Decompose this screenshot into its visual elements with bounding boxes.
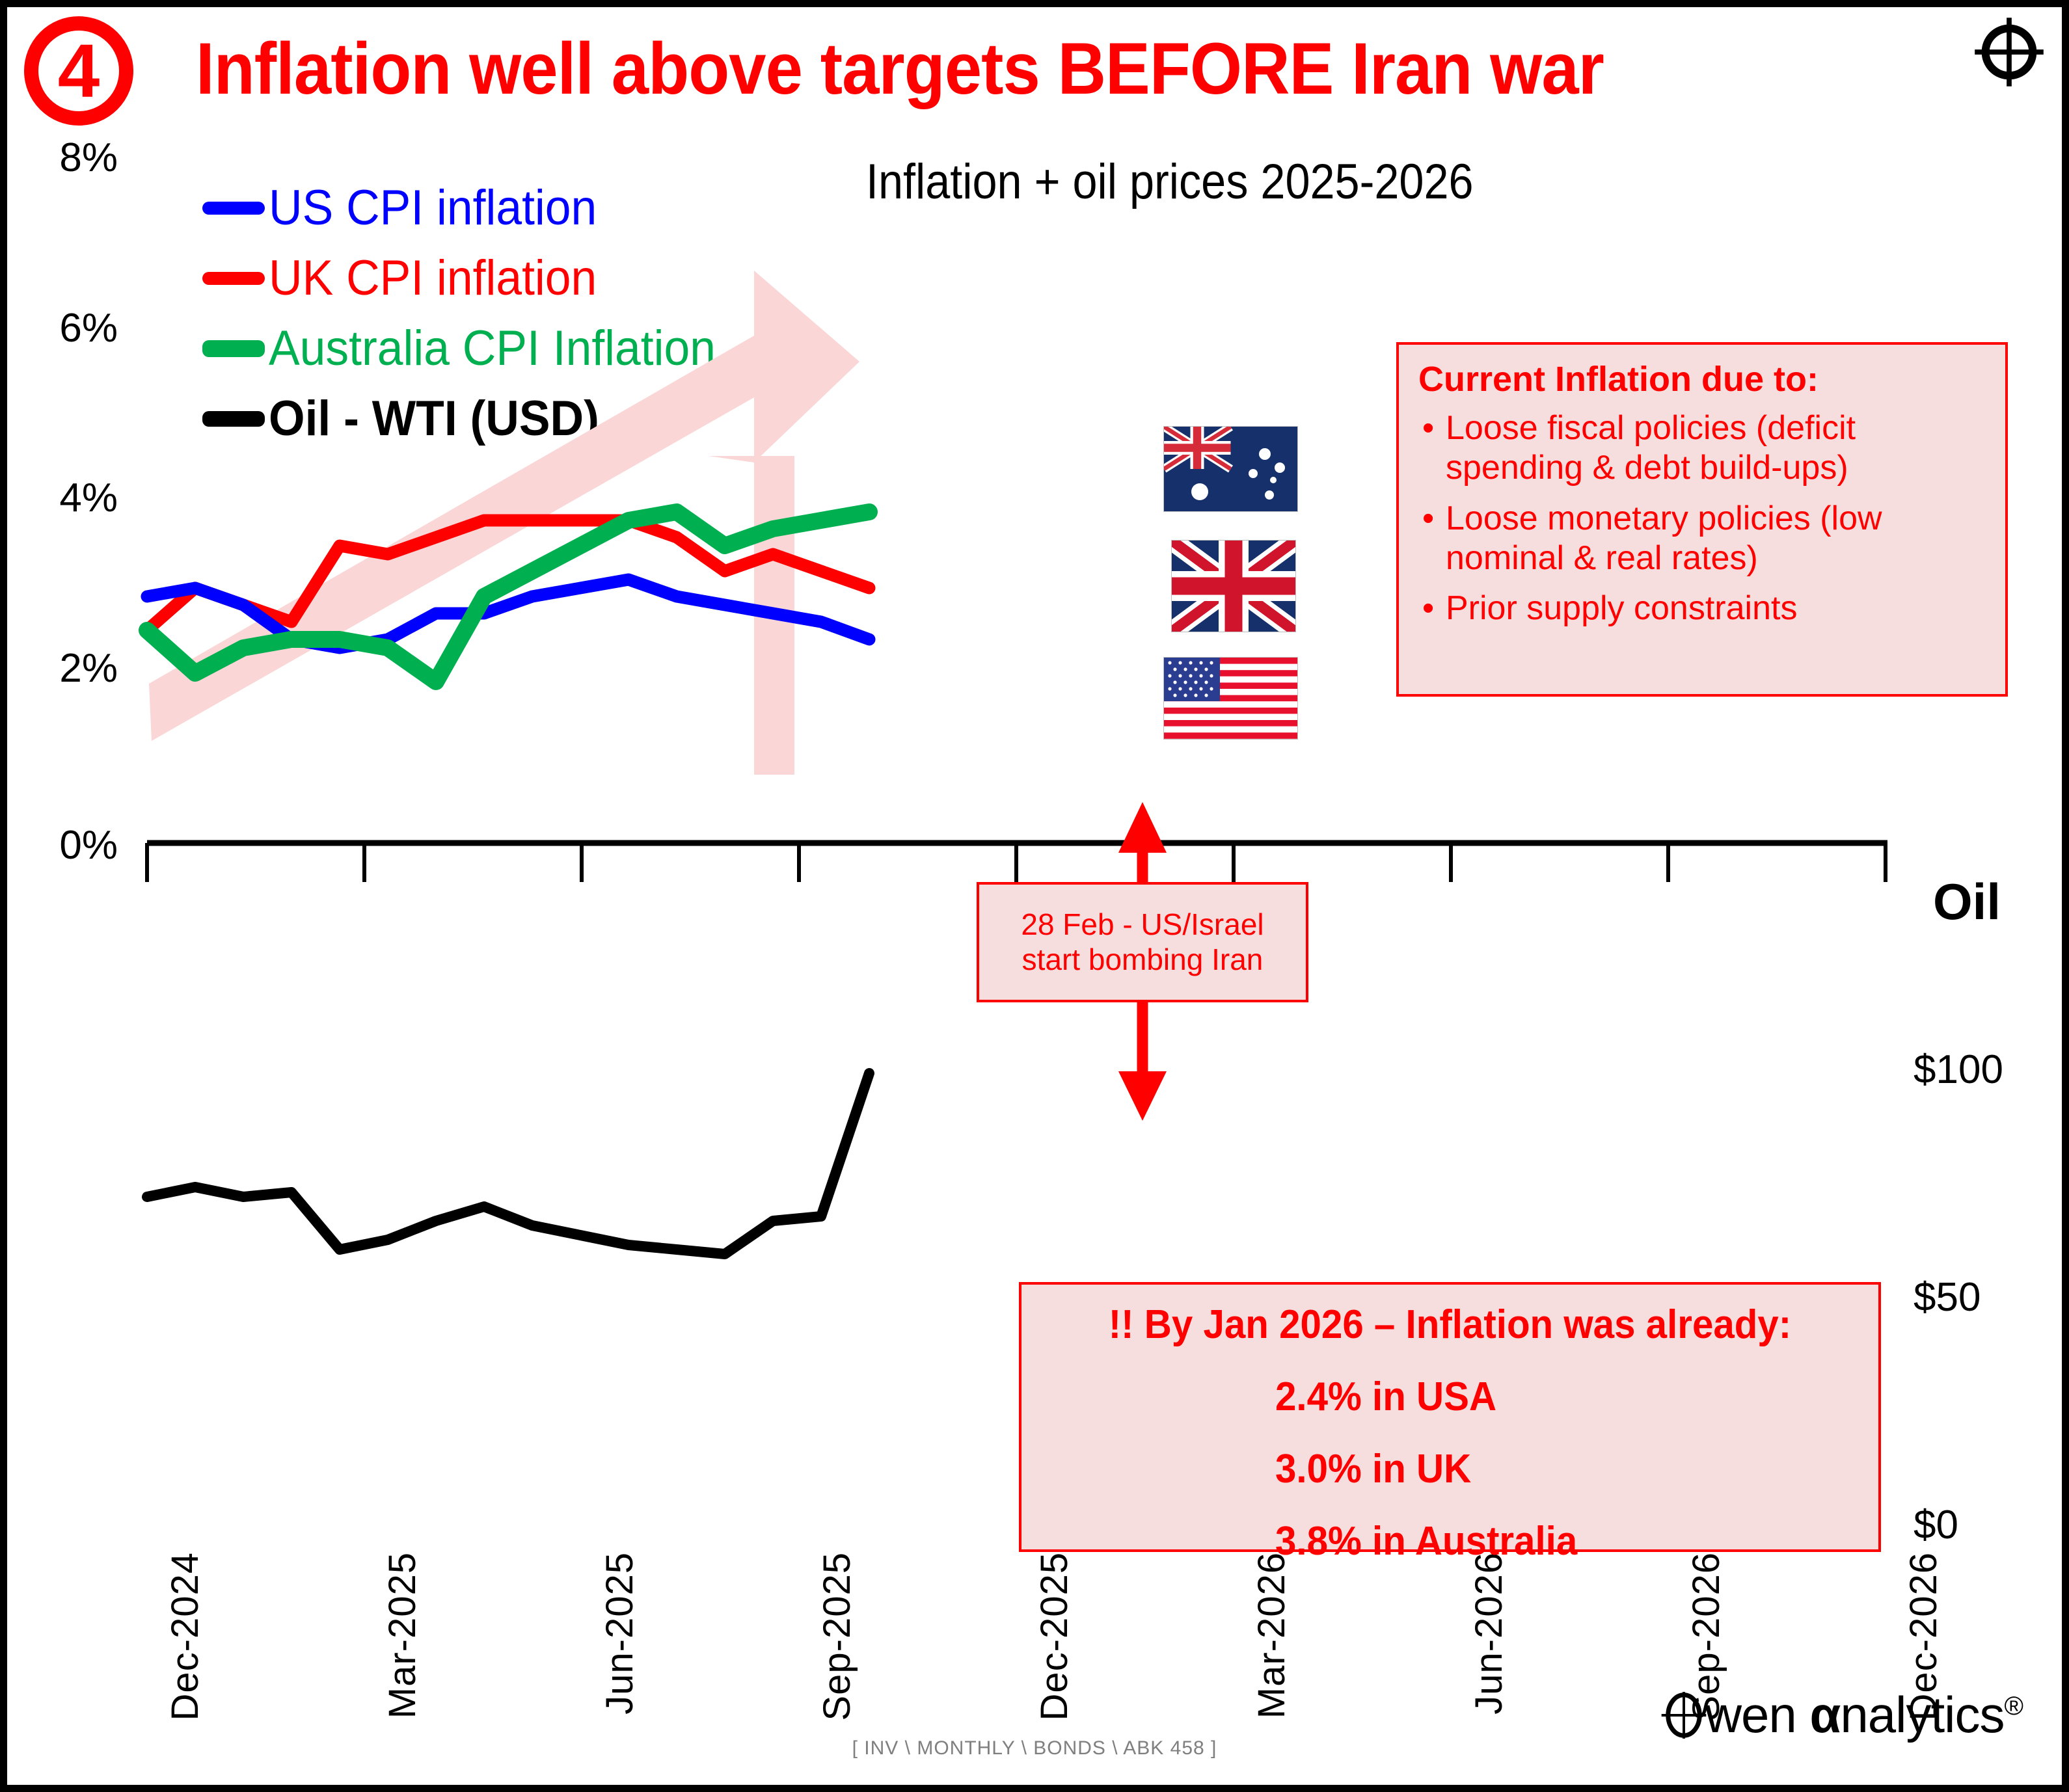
y2-axis-label-50: $50 [1913,1274,1981,1320]
callout-iran-bombing-event: 28 Feb - US/Israel start bombing Iran [977,882,1308,1002]
page-title: Inflation well above targets BEFORE Iran… [196,27,1604,111]
slide-number-badge: 4 [24,16,133,126]
brand-text: wen αnalytics® [1705,1685,2023,1745]
legend-item-au[interactable]: Australia CPI Inflation [202,314,744,384]
y2-axis-label-0: $0 [1913,1502,1958,1548]
badge-number: 4 [58,33,100,109]
legend-item-uk[interactable]: UK CPI inflation [202,243,744,314]
callout-event-line2: start bombing Iran [1022,943,1264,977]
brand-text-2: nalytics [1840,1686,2004,1743]
legend-label-uk: UK CPI inflation [269,254,597,303]
callout-jan-2026-inflation: !! By Jan 2026 – Inflation was already: … [1019,1282,1881,1552]
callout-jan-item-uk: 3.0% in UK [1275,1446,1842,1492]
crosshair-icon [1973,16,2045,88]
x-axis-label-jun-2026: Jun-2026 [1467,1552,1511,1715]
event-arrowhead-down [1118,1071,1167,1121]
y-axis-label-8: 8% [33,135,118,181]
x-axis-label-dec-2024: Dec-2024 [163,1552,207,1720]
legend-swatch-au [202,340,265,357]
series-line-oil [147,1073,869,1254]
y-axis-label-4: 4% [33,475,118,521]
x-axis-label-jun-2025: Jun-2025 [598,1552,642,1715]
legend-item-us[interactable]: US CPI inflation [202,173,744,243]
x-axis-label-sep-2025: Sep-2025 [815,1552,859,1721]
series-line-uk [147,520,869,630]
y-axis-label-6: 6% [33,305,118,351]
brand-text-1: wen [1705,1686,1810,1743]
callout-causes-item-1: Loose fiscal policies (deficit spending … [1446,408,1988,488]
x-axis-label-mar-2026: Mar-2026 [1250,1552,1293,1718]
legend-item-oil[interactable]: Oil - WTI (USD) [202,384,744,454]
crosshair-icon-small [1658,1690,1709,1741]
chart-legend: US CPI inflation UK CPI inflation Austra… [202,173,744,454]
x-axis-label-mar-2025: Mar-2025 [381,1552,424,1718]
series-line-us [147,580,869,648]
event-arrowhead-up [1118,802,1167,853]
legend-label-oil: Oil - WTI (USD) [269,394,599,444]
chart-subtitle: Inflation + oil prices 2025-2026 [866,154,1474,210]
callout-causes-heading: Current Inflation due to: [1418,359,1988,399]
flag-usa [1164,658,1297,739]
legend-swatch-uk [202,272,265,285]
x-axis-ticks [147,843,1886,882]
legend-label-us: US CPI inflation [269,183,597,233]
callout-causes-item-2: Loose monetary policies (low nominal & r… [1446,499,1988,579]
callout-event-line1: 28 Feb - US/Israel [1021,907,1264,942]
y2-axis-label-100: $100 [1913,1047,2003,1093]
brand-registered: ® [2005,1692,2023,1720]
legend-swatch-us [202,202,265,215]
flag-australia [1164,427,1297,511]
x-axis-label-dec-2025: Dec-2025 [1033,1552,1076,1720]
legend-label-au: Australia CPI Inflation [269,324,716,373]
callout-current-inflation-causes: Current Inflation due to: Loose fiscal p… [1396,342,2008,697]
callout-jan-item-usa: 2.4% in USA [1275,1374,1842,1420]
oil-axis-title: Oil [1933,872,2001,931]
flag-uk [1172,541,1295,632]
callout-causes-list: Loose fiscal policies (deficit spending … [1416,408,1988,629]
brand-alpha: α [1809,1686,1840,1743]
y-axis-label-0: 0% [33,822,118,868]
series-line-australia [147,512,869,682]
y-axis-label-2: 2% [33,645,118,691]
legend-swatch-oil [202,411,265,427]
brand-logo: wen αnalytics® [1658,1685,2023,1745]
callout-jan-item-australia: 3.8% in Australia [1275,1518,1842,1564]
callout-causes-item-3: Prior supply constraints [1446,589,1988,628]
callout-jan-heading: !! By Jan 2026 – Inflation was already: [1048,1302,1853,1348]
slide-canvas: 4 Inflation well above targets BEFORE Ir… [0,0,2069,1792]
